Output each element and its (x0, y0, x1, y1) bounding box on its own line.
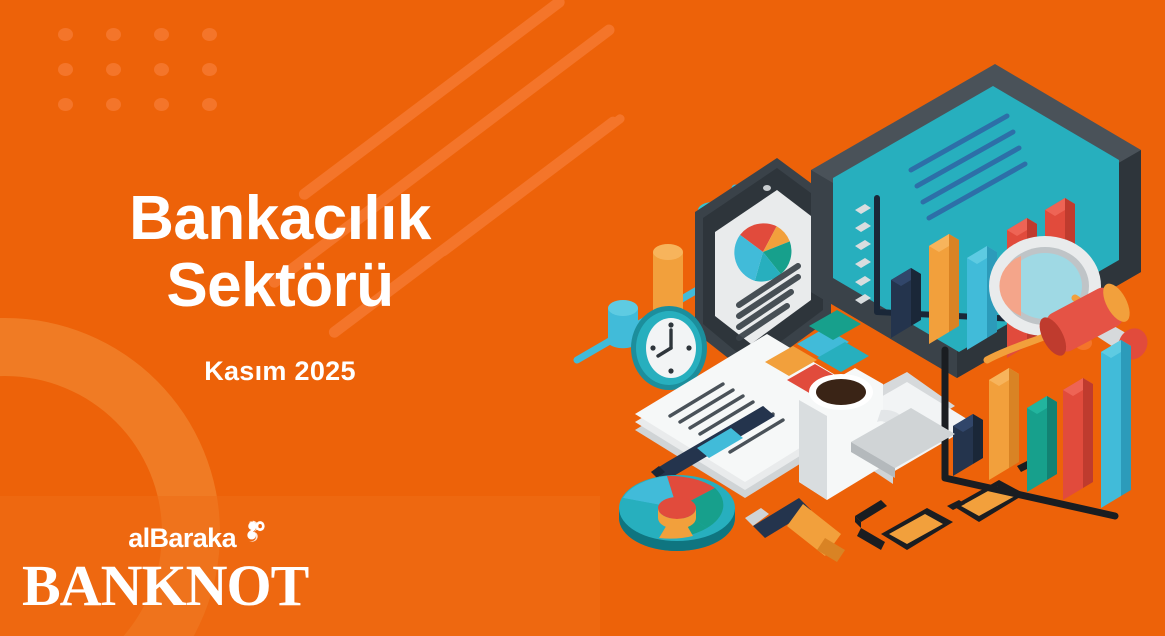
dot-decoration (154, 63, 169, 76)
dot-decoration (202, 98, 217, 111)
business-analytics-illustration (555, 60, 1165, 590)
diagonal-streak-1 (297, 0, 567, 202)
dot-decoration (106, 63, 121, 76)
albaraka-wordmark: alBaraka (128, 525, 236, 552)
dot-decoration (202, 63, 217, 76)
dot-decoration (58, 98, 73, 111)
page-title-line-2: Sektörü (0, 253, 560, 320)
fountain-pen-icon (745, 498, 845, 562)
dot-decoration (202, 28, 217, 41)
dot-decoration (106, 28, 121, 41)
dot-decoration (58, 63, 73, 76)
albaraka-swirl-icon (238, 519, 268, 549)
dot-grid-decoration (58, 28, 223, 118)
page-title-line-1: Bankacılık (0, 186, 560, 253)
dot-decoration (58, 28, 73, 41)
page-subtitle-date: Kasım 2025 (0, 356, 560, 387)
banknot-wordmark: BANKNOT (22, 557, 292, 615)
brand-logo[interactable]: alBaraka BANKNOT (22, 525, 292, 615)
hero-text-block: Bankacılık Sektörü Kasım 2025 (0, 186, 560, 387)
dot-decoration (154, 98, 169, 111)
donut-pie-chart (619, 475, 735, 551)
poster-canvas: Bankacılık Sektörü Kasım 2025 alBaraka B… (0, 0, 1165, 636)
dot-decoration (106, 98, 121, 111)
dot-decoration (154, 28, 169, 41)
